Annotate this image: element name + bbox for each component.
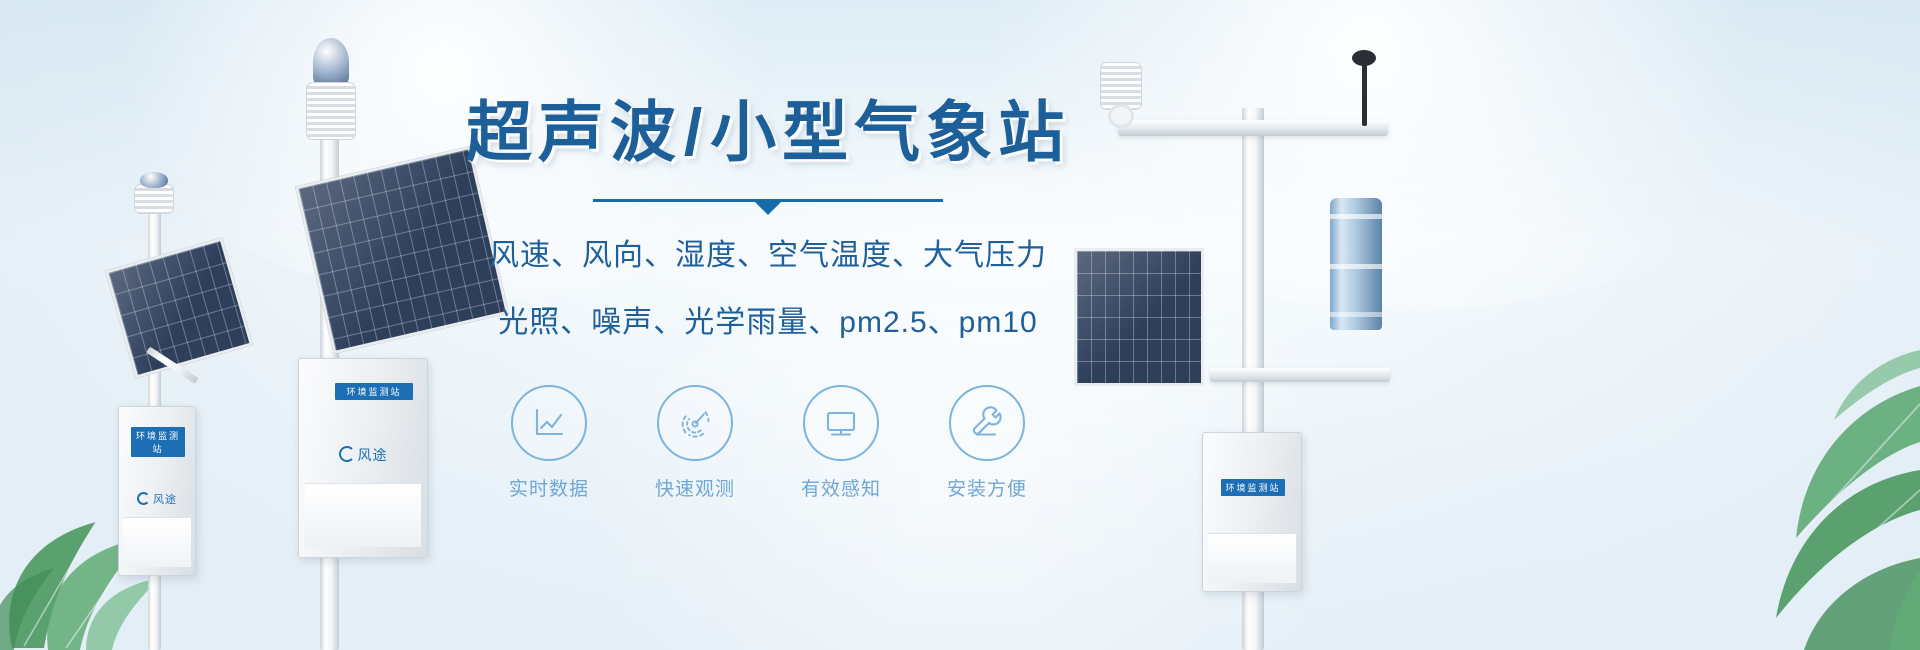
equipment-cabinet: 环境监测站 — [1202, 432, 1302, 592]
radar-signal-icon — [675, 403, 715, 443]
headline-part-2: 小型气象站 — [710, 95, 1070, 169]
feature-label: 快速观测 — [641, 474, 749, 501]
subtitle-line-1: 风速、风向、湿度、空气温度、大气压力 — [448, 228, 1088, 284]
feature-icon-ring — [803, 385, 879, 461]
subtitle-line-2: 光照、噪声、光学雨量、pm2.5、pm10 — [448, 295, 1088, 351]
wrench-icon — [967, 403, 1007, 443]
weather-station-left: 环境监测站 风途 — [96, 170, 296, 650]
ultrasonic-sensor-head — [313, 38, 349, 86]
brand-mark-icon — [137, 492, 150, 505]
feature-icon-ring — [657, 385, 733, 461]
leaf-decoration-right — [1590, 350, 1920, 650]
equipment-cabinet: 环境监测站 风途 — [298, 358, 428, 558]
radiation-shield — [1100, 62, 1142, 110]
feature-fast-observation[interactable]: 快速观测 — [641, 385, 749, 501]
weather-station-right: 环境监测站 — [1060, 50, 1460, 650]
feature-label: 安装方便 — [933, 474, 1041, 501]
cabinet-plate-label: 环境监测站 — [335, 383, 413, 400]
feature-realtime-data[interactable]: 实时数据 — [495, 385, 603, 501]
headline-slash: / — [684, 95, 708, 169]
feature-label: 实时数据 — [495, 474, 603, 501]
solar-panel — [1074, 248, 1204, 386]
equipment-cabinet: 环境监测站 风途 — [118, 406, 196, 576]
cabinet-brand-label: 风途 — [119, 491, 195, 507]
cabinet-plate-label: 环境监测站 — [1221, 479, 1285, 496]
brand-mark-icon — [339, 446, 355, 462]
feature-effective-sensing[interactable]: 有效感知 — [787, 385, 895, 501]
monitor-icon — [821, 403, 861, 443]
line-chart-icon — [529, 403, 569, 443]
banner-content: 超声波/小型气象站 风速、风向、湿度、空气温度、大气压力 光照、噪声、光学雨量、… — [448, 96, 1088, 501]
page-title: 超声波/小型气象站 — [448, 96, 1088, 169]
feature-icon-ring — [949, 385, 1025, 461]
title-divider — [593, 199, 943, 202]
radiation-shield — [306, 82, 356, 140]
cabinet-plate-label: 环境监测站 — [131, 427, 185, 457]
feature-easy-installation[interactable]: 安装方便 — [933, 385, 1041, 501]
feature-label: 有效感知 — [787, 474, 895, 501]
feature-icon-ring — [511, 385, 587, 461]
headline-part-1: 超声波 — [466, 95, 682, 169]
feature-list: 实时数据 快速观测 — [448, 385, 1088, 501]
lightning-rod — [1362, 56, 1367, 126]
product-banner: 环境监测站 风途 环境监测站 风途 — [0, 0, 1920, 650]
cabinet-brand-label: 风途 — [299, 445, 427, 465]
